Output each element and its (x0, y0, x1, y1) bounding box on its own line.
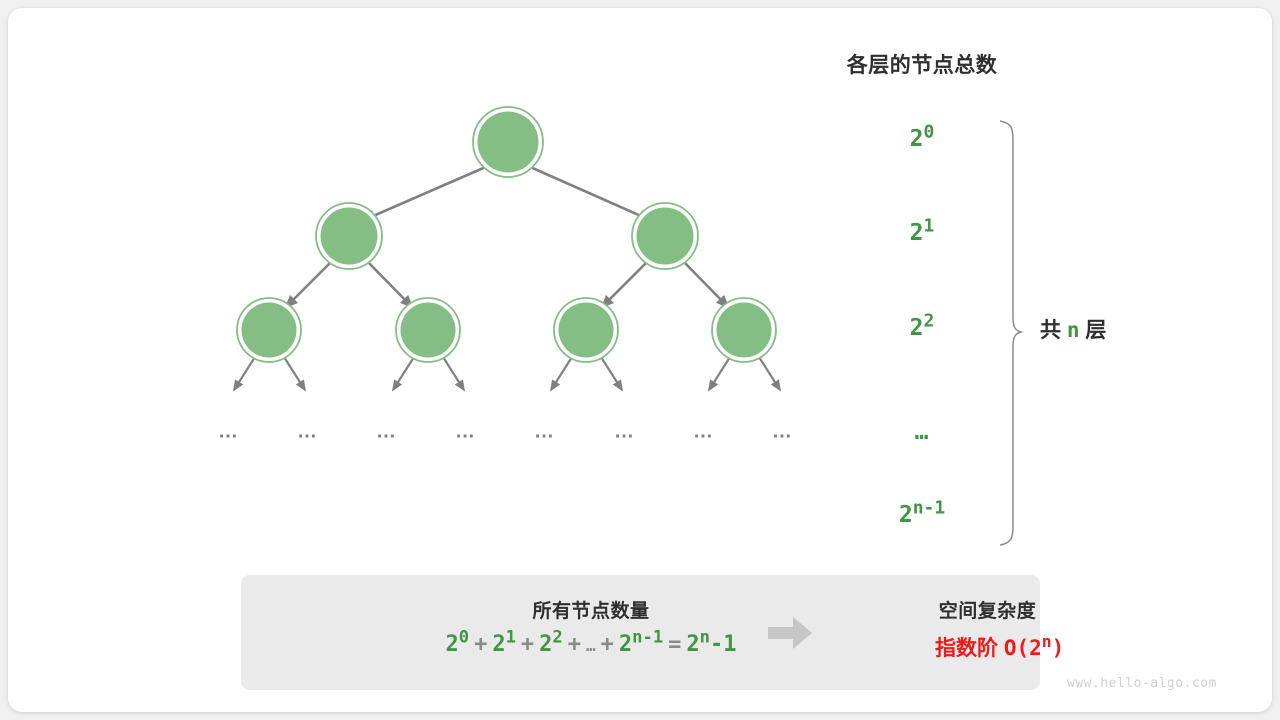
leaf-ellipsis-4: … (534, 421, 556, 444)
column-title-text: 各层的节点总数 (847, 54, 998, 77)
level-label-last-exp: n-1 (913, 497, 945, 518)
right-arrow-icon (768, 616, 812, 650)
summary-right: 空间复杂度 指数阶 O(2n) (935, 575, 1040, 662)
level-label-1-base: 2 (910, 220, 924, 246)
leaf-ellipsis-5: … (614, 421, 636, 444)
level-label-last-base: 2 (899, 502, 913, 528)
level-label-ellipsis-text: … (915, 419, 930, 445)
level-label-2: 22 (862, 315, 982, 341)
total-layers-prefix: 共 (1040, 319, 1061, 342)
level-label-2-base: 2 (910, 315, 924, 341)
plus-1: + (469, 632, 492, 657)
level-label-0: 20 (862, 126, 982, 152)
formula-ellipsis: … (586, 636, 596, 655)
leaf-ellipsis-6: … (693, 421, 715, 444)
level-label-0-base: 2 (910, 126, 924, 152)
term-2-pow-n-minus-one-total: 2n-1 (686, 632, 736, 657)
summary-left: 所有节点数量 20+21+22+…+2n-1=2n-1 (241, 575, 941, 657)
space-complexity-value: 指数阶 O(2n) (935, 632, 1040, 662)
term-2-pow-1: 21 (492, 632, 516, 657)
leaf-ellipsis-1: … (297, 421, 319, 444)
level-label-0-exp: 0 (924, 121, 935, 142)
summary-box: 所有节点数量 20+21+22+…+2n-1=2n-1 空间复杂度 指数阶 O(… (241, 575, 1040, 690)
node-count-formula: 20+21+22+…+2n-1=2n-1 (241, 632, 941, 657)
plus-3: + (563, 632, 586, 657)
tree-nodes (237, 107, 776, 362)
total-layers-label: 共 n 层 (1040, 314, 1106, 344)
leaf-ellipsis-0: … (218, 421, 240, 444)
level-label-1: 21 (862, 220, 982, 246)
total-layers-suffix: 层 (1085, 319, 1106, 342)
plus-2: + (516, 632, 539, 657)
term-2-pow-2: 22 (539, 632, 563, 657)
leaf-ellipsis-3: … (455, 421, 477, 444)
level-label-1-exp: 1 (924, 215, 935, 236)
watermark: www.hello-algo.com (1067, 676, 1217, 691)
equals-sign: = (663, 632, 686, 657)
leaf-ellipsis-7: … (772, 421, 794, 444)
total-layers-brace (1000, 121, 1021, 545)
term-2-pow-n-minus-1: 2n-1 (619, 632, 663, 657)
space-complexity-title: 空间复杂度 (935, 596, 1040, 623)
all-nodes-title: 所有节点数量 (241, 596, 941, 623)
leaf-ellipsis-2: … (376, 421, 398, 444)
level-label-2-exp: 2 (924, 310, 935, 331)
column-title: 各层的节点总数 (0, 49, 1280, 79)
level-label-ellipsis: … (862, 419, 982, 445)
total-layers-variable: n (1067, 318, 1080, 342)
diagram-canvas: 各层的节点总数 20 21 22 … 2n-1 共 n 层 … … … … … … (0, 0, 1280, 720)
level-label-last: 2n-1 (862, 502, 982, 528)
complexity-prefix: 指数阶 (935, 637, 998, 660)
complexity-bigo: O(2n) (1004, 636, 1064, 660)
plus-4: + (596, 632, 619, 657)
tree-leaf-edges (234, 357, 780, 390)
term-2-pow-0: 20 (445, 632, 469, 657)
